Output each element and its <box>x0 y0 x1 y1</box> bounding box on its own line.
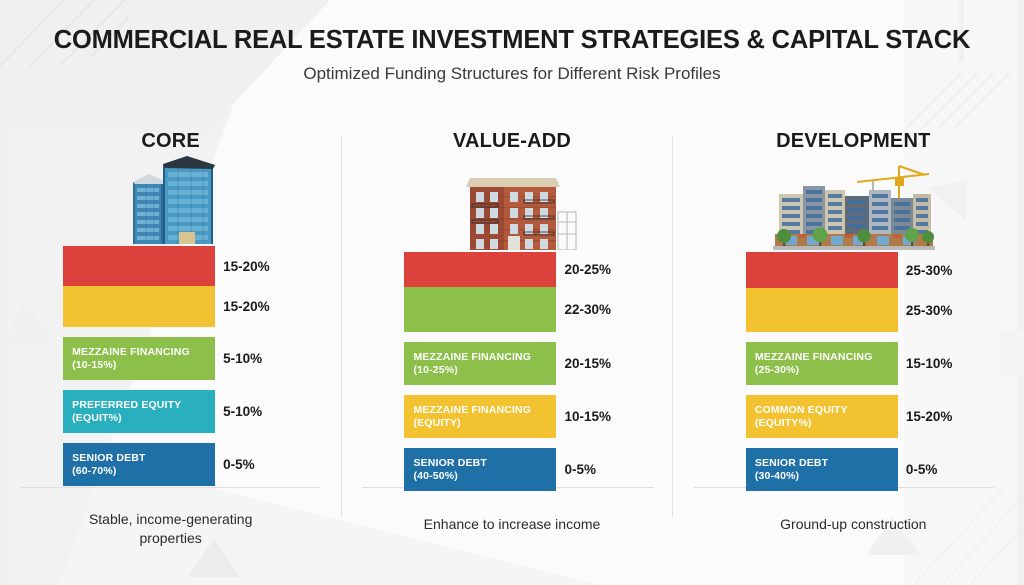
band-percentage: 15-20% <box>215 246 278 286</box>
column-footer-note: Enhance to increase income <box>424 515 601 534</box>
capital-stack-band[interactable]: COMMON EQUITY(EQUITY%)15-20% <box>746 395 961 438</box>
band-gap <box>63 327 278 337</box>
capital-stack-band[interactable]: MEZZAINE FINANCING(10-15%)5-10% <box>63 337 278 380</box>
band-percentage: 5-10% <box>215 390 278 433</box>
band-percentage: 0-5% <box>556 448 619 491</box>
capital-stack-band[interactable]: MEZZAINE FINANCING(10-25%)20-15% <box>404 342 619 385</box>
band-label-secondary: (40-50%) <box>413 470 556 483</box>
band-gap <box>746 438 961 448</box>
band-gap <box>746 332 961 342</box>
band-label-primary: MEZZAINE FINANCING <box>755 351 898 364</box>
band-label-primary: SENIOR DEBT <box>413 457 556 470</box>
band-label-secondary: (30-40%) <box>755 470 898 483</box>
capital-stack-band[interactable]: 25-30% <box>746 288 961 332</box>
capital-stack: 15-20%15-20%MEZZAINE FINANCING(10-15%)5-… <box>63 246 278 486</box>
band-percentage: 0-5% <box>898 448 961 491</box>
band-gap <box>63 433 278 443</box>
band-label-primary: MEZZAINE FINANCING <box>72 346 215 359</box>
page-title: COMMERCIAL REAL ESTATE INVESTMENT STRATE… <box>0 26 1024 55</box>
band-percentage: 20-25% <box>556 252 619 287</box>
infographic-slide: COMMERCIAL REAL ESTATE INVESTMENT STRATE… <box>0 0 1024 585</box>
column-heading: VALUE-ADD <box>453 128 571 160</box>
strategy-column-value-add: VALUE-ADD <box>341 128 682 548</box>
band-gap <box>404 385 619 395</box>
band-percentage: 22-30% <box>556 287 619 332</box>
band-label-secondary: (EQUITY) <box>413 417 556 430</box>
column-heading: CORE <box>141 128 200 154</box>
band-label-secondary: (60-70%) <box>72 465 215 478</box>
band-percentage: 25-30% <box>898 288 961 332</box>
capital-stack-band[interactable]: 20-25% <box>404 252 619 287</box>
band-bar[interactable] <box>746 252 898 288</box>
band-label-secondary: (EQUIT%) <box>72 412 215 425</box>
capital-stack-band[interactable]: SENIOR DEBT(40-50%)0-5% <box>404 448 619 491</box>
column-footer-note: Stable, income-generating properties <box>66 510 276 548</box>
band-bar[interactable]: MEZZAINE FINANCING(25-30%) <box>746 342 898 385</box>
capital-stack-band[interactable]: 22-30% <box>404 287 619 332</box>
band-gap <box>404 332 619 342</box>
strategy-column-core: CORE <box>0 128 341 548</box>
capital-stack-band[interactable]: 15-20% <box>63 246 278 286</box>
column-footer-note: Ground-up construction <box>780 515 926 534</box>
blue-glass-office-towers-icon <box>71 154 271 244</box>
band-bar[interactable] <box>404 287 556 332</box>
band-percentage: 20-15% <box>556 342 619 385</box>
band-bar[interactable]: COMMON EQUITY(EQUITY%) <box>746 395 898 438</box>
band-percentage: 15-20% <box>215 286 278 327</box>
capital-stack-band[interactable]: PREFERRED EQUITY(EQUIT%)5-10% <box>63 390 278 433</box>
header: COMMERCIAL REAL ESTATE INVESTMENT STRATE… <box>0 26 1024 84</box>
capital-stack-band[interactable]: SENIOR DEBT(30-40%)0-5% <box>746 448 961 491</box>
band-label-primary: SENIOR DEBT <box>72 452 215 465</box>
band-gap <box>63 380 278 390</box>
band-label-secondary: (EQUITY%) <box>755 417 898 430</box>
capital-stack-band[interactable]: MEZZAINE FINANCING(EQUITY)10-15% <box>404 395 619 438</box>
column-heading: DEVELOPMENT <box>776 128 930 160</box>
capital-stack-band[interactable]: 15-20% <box>63 286 278 327</box>
band-bar[interactable] <box>63 246 215 286</box>
page-subtitle: Optimized Funding Structures for Differe… <box>0 64 1024 84</box>
band-bar[interactable]: MEZZAINE FINANCING(EQUITY) <box>404 395 556 438</box>
band-label-primary: MEZZAINE FINANCING <box>413 404 556 417</box>
band-bar[interactable]: SENIOR DEBT(30-40%) <box>746 448 898 491</box>
band-percentage: 15-20% <box>898 395 961 438</box>
band-percentage: 5-10% <box>215 337 278 380</box>
band-gap <box>404 438 619 448</box>
band-label-primary: MEZZAINE FINANCING <box>413 351 556 364</box>
construction-site-crane-icon <box>753 160 953 250</box>
blue-glass-office-towers-icon <box>71 154 271 244</box>
band-bar[interactable]: SENIOR DEBT(60-70%) <box>63 443 215 486</box>
band-percentage: 10-15% <box>556 395 619 438</box>
band-percentage: 15-10% <box>898 342 961 385</box>
construction-site-crane-icon <box>753 160 953 252</box>
band-bar[interactable]: PREFERRED EQUITY(EQUIT%) <box>63 390 215 433</box>
band-bar[interactable] <box>63 286 215 327</box>
band-gap <box>746 385 961 395</box>
band-bar[interactable]: MEZZAINE FINANCING(10-15%) <box>63 337 215 380</box>
band-percentage: 0-5% <box>215 443 278 486</box>
band-label-primary: COMMON EQUITY <box>755 404 898 417</box>
capital-stack-band[interactable]: 25-30% <box>746 252 961 288</box>
band-label-primary: PREFERRED EQUITY <box>72 399 215 412</box>
band-percentage: 25-30% <box>898 252 961 288</box>
band-label-primary: SENIOR DEBT <box>755 457 898 470</box>
red-brick-apartment-building-icon <box>412 160 612 250</box>
band-bar[interactable]: MEZZAINE FINANCING(10-25%) <box>404 342 556 385</box>
capital-stack-band[interactable]: SENIOR DEBT(60-70%)0-5% <box>63 443 278 486</box>
band-bar[interactable]: SENIOR DEBT(40-50%) <box>404 448 556 491</box>
capital-stack: 25-30%25-30%MEZZAINE FINANCING(25-30%)15… <box>746 252 961 491</box>
band-label-secondary: (10-25%) <box>413 364 556 377</box>
strategy-column-development: DEVELOPMENT <box>683 128 1024 548</box>
red-brick-apartment-building-icon <box>412 160 612 250</box>
strategy-columns: CORE <box>0 128 1024 548</box>
capital-stack-band[interactable]: MEZZAINE FINANCING(25-30%)15-10% <box>746 342 961 385</box>
band-bar[interactable] <box>404 252 556 287</box>
band-label-secondary: (10-15%) <box>72 359 215 372</box>
capital-stack: 20-25%22-30%MEZZAINE FINANCING(10-25%)20… <box>404 252 619 491</box>
band-bar[interactable] <box>746 288 898 332</box>
band-label-secondary: (25-30%) <box>755 364 898 377</box>
